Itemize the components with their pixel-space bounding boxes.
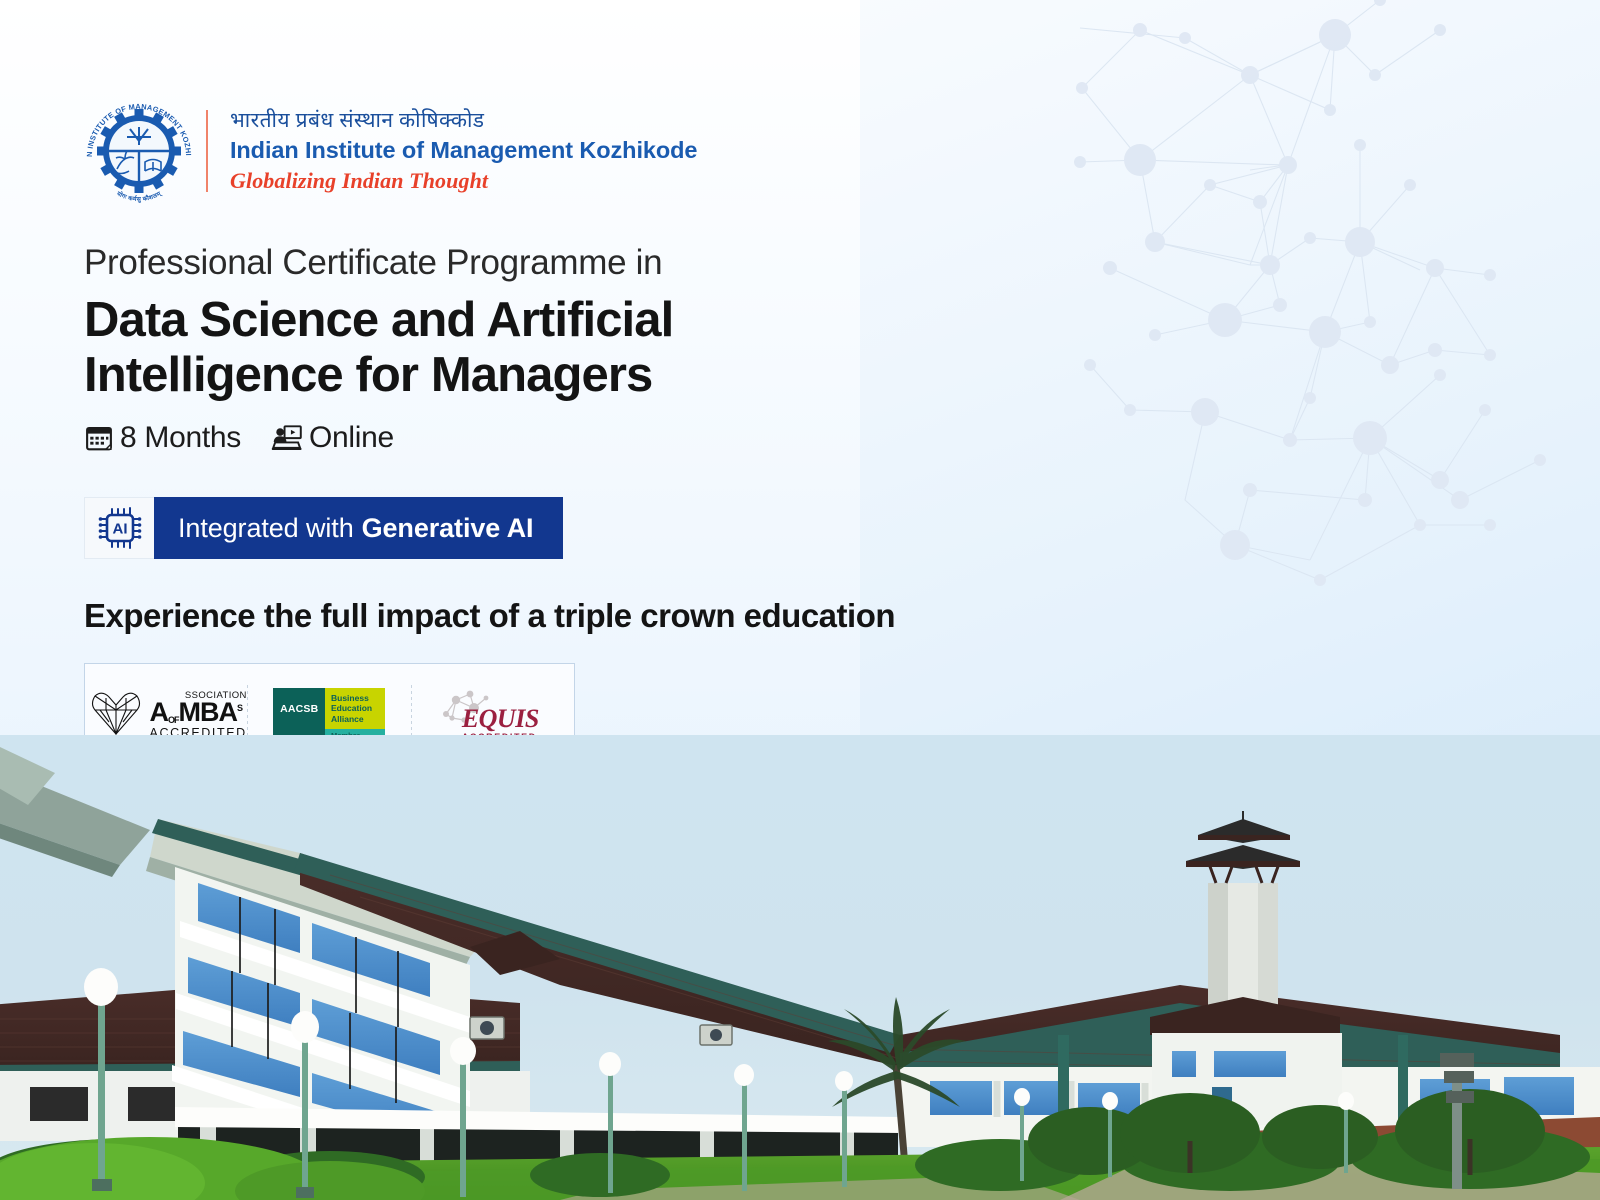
value-tagline: Experience the full impact of a triple c… bbox=[84, 597, 895, 635]
meta-mode: Online bbox=[271, 421, 394, 455]
genai-highlight: Generative AI bbox=[362, 513, 534, 544]
meta-duration: 8 Months bbox=[84, 421, 241, 455]
aacsb-line2: Education bbox=[331, 703, 385, 714]
amba-s: S bbox=[237, 703, 242, 713]
online-presentation-icon bbox=[271, 423, 303, 453]
amba-line2: AOFMBAS bbox=[150, 700, 247, 726]
programme-eyebrow: Professional Certificate Programme in bbox=[84, 243, 662, 283]
programme-title: Data Science and Artificial Intelligence… bbox=[84, 293, 844, 403]
meta-mode-label: Online bbox=[309, 421, 394, 455]
generative-ai-bar: Integrated with Generative AI bbox=[154, 497, 563, 559]
equis-name: EQUIS bbox=[462, 706, 539, 732]
institution-name-english: Indian Institute of Management Kozhikode bbox=[230, 136, 697, 165]
campus-photo bbox=[0, 735, 1600, 1200]
amba-a: A bbox=[150, 697, 169, 727]
aacsb-line3: Alliance bbox=[331, 714, 385, 725]
aacsb-logo: AACSB Business Education Alliance Member bbox=[273, 688, 385, 742]
amba-of: OF bbox=[168, 715, 179, 725]
brand-divider bbox=[206, 110, 208, 192]
institution-tagline: Globalizing Indian Thought bbox=[230, 167, 697, 196]
ai-chip-icon-wrap: AI bbox=[84, 497, 154, 559]
meta-duration-label: 8 Months bbox=[120, 421, 241, 455]
genai-prefix: Integrated with bbox=[178, 513, 354, 544]
generative-ai-badge: AI Integrated with Generative AI bbox=[84, 497, 563, 559]
amba-mba: MBA bbox=[179, 697, 238, 727]
institution-name-hindi: भारतीय प्रबंध संस्थान कोषिक्कोड bbox=[230, 107, 697, 133]
amba-diamond-icon bbox=[86, 688, 146, 742]
ai-chip-icon: AI bbox=[96, 504, 144, 552]
iimk-seal-logo: INDIAN INSTITUTE OF MANAGEMENT KOZHIKODE… bbox=[78, 96, 200, 206]
svg-text:AI: AI bbox=[112, 521, 127, 538]
aacsb-mark: AACSB bbox=[273, 688, 325, 729]
network-node-pattern bbox=[1020, 0, 1600, 640]
aacsb-line1: Business bbox=[331, 693, 385, 704]
institution-brand: INDIAN INSTITUTE OF MANAGEMENT KOZHIKODE… bbox=[78, 96, 697, 206]
promo-banner: INDIAN INSTITUTE OF MANAGEMENT KOZHIKODE… bbox=[0, 0, 1600, 1200]
programme-meta: 8 Months Online bbox=[84, 421, 394, 455]
calendar-icon bbox=[84, 423, 114, 453]
